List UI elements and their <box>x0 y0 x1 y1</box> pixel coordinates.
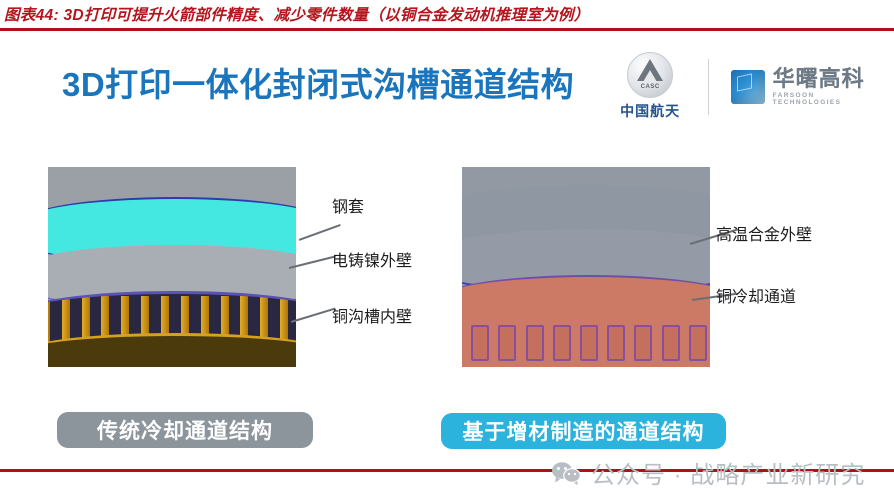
figure-additive-cooling <box>462 167 710 367</box>
cooling-channel <box>526 325 544 361</box>
casc-logo-name: 中国航天 <box>620 101 680 121</box>
farsoon-cube-icon <box>731 70 764 104</box>
cooling-channel <box>662 325 680 361</box>
cooling-channel <box>471 325 489 361</box>
cooling-channel <box>607 325 625 361</box>
slide-panel: 3D打印一体化封闭式沟槽通道结构 CASC 中国航天 华曙高科 FARSOON … <box>0 31 894 469</box>
leader-line-grooved-inner-wall <box>291 308 335 323</box>
caption-traditional-structure: 传统冷却通道结构 <box>57 412 313 448</box>
watermark-text: 公众号 · 战略产业新研究 <box>591 455 865 490</box>
report-header: 图表44: 3D打印可提升火箭部件精度、减少零件数量（以铜合金发动机推理室为例） <box>0 0 894 31</box>
farsoon-logo-text: 华曙高科 FARSOON TECHNOLOGIES <box>773 68 884 106</box>
casc-logo: CASC 中国航天 <box>612 52 688 122</box>
rib <box>48 296 50 346</box>
casc-mark-text: CASC <box>628 84 672 90</box>
casc-arrow-notch <box>643 70 657 82</box>
layer-copper-cooling-region <box>462 275 710 367</box>
cooling-channel <box>580 325 598 361</box>
cooling-channel <box>498 325 516 361</box>
wechat-icon <box>551 461 581 485</box>
cooling-channel <box>634 325 652 361</box>
cooling-channel <box>553 325 571 361</box>
report-title: 图表44: 3D打印可提升火箭部件精度、减少零件数量（以铜合金发动机推理室为例） <box>4 3 590 25</box>
leader-line-steel-jacket <box>299 224 341 240</box>
farsoon-logo: 华曙高科 FARSOON TECHNOLOGIES <box>731 68 884 106</box>
annotation-superalloy-outer-wall: 高温合金外壁 <box>716 221 812 245</box>
figure-traditional-cooling <box>48 167 296 367</box>
caption-additive-structure: 基于增材制造的通道结构 <box>441 413 726 449</box>
annotation-copper-cooling-channel: 铜冷却通道 <box>716 283 796 307</box>
logo-separator <box>708 59 709 115</box>
right-diagram-image <box>462 167 710 367</box>
farsoon-logo-name-cn: 华曙高科 <box>773 68 884 90</box>
annotation-steel-jacket: 钢套 <box>332 193 364 217</box>
left-diagram-image <box>48 167 296 367</box>
annotation-grooved-inner-wall: 铜沟槽内壁 <box>332 303 412 327</box>
layer-copper-base <box>48 333 296 367</box>
slide-heading: 3D打印一体化封闭式沟槽通道结构 <box>62 58 574 106</box>
watermark: 公众号 · 战略产业新研究 <box>551 455 865 490</box>
farsoon-logo-name-en: FARSOON TECHNOLOGIES <box>773 93 884 106</box>
casc-emblem-icon: CASC <box>627 52 673 98</box>
annotation-nickel-wall: 电铸镍外壁 <box>332 247 412 271</box>
logo-block: CASC 中国航天 华曙高科 FARSOON TECHNOLOGIES <box>612 51 884 123</box>
cooling-channel <box>689 325 707 361</box>
channel-row <box>462 325 710 361</box>
